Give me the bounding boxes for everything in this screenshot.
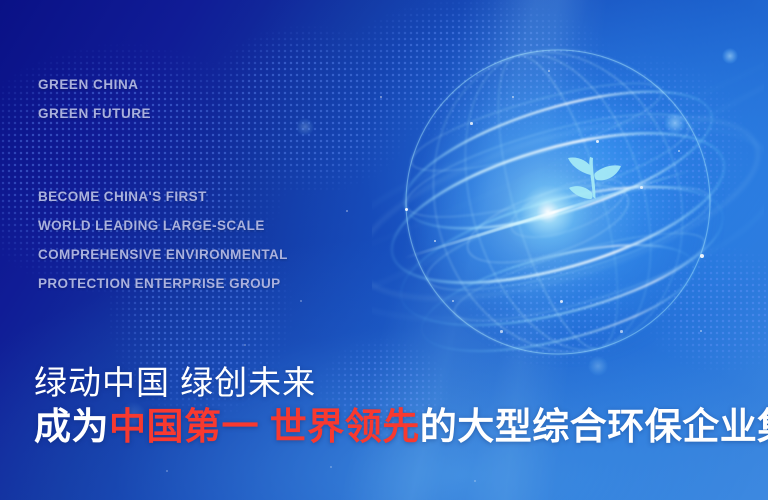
tagline-line-4: PROTECTION ENTERPRISE GROUP — [38, 269, 288, 298]
eyebrow-text: GREEN CHINA GREEN FUTURE — [38, 70, 151, 128]
headline-line-2: 成为中国第一 世界领先的大型综合环保企业集团 — [34, 403, 754, 451]
sprout-seedling-icon — [558, 147, 628, 233]
tagline-line-2: WORLD LEADING LARGE-SCALE — [38, 211, 288, 240]
tagline-line-1: BECOME CHINA'S FIRST — [38, 182, 288, 211]
headline-line-1: 绿动中国 绿创未来 — [34, 362, 754, 403]
globe-core-streak — [405, 169, 693, 260]
tagline-text: BECOME CHINA'S FIRST WORLD LEADING LARGE… — [38, 182, 288, 298]
hero-banner: GREEN CHINA GREEN FUTURE BECOME CHINA'S … — [0, 0, 768, 500]
headline-prefix: 成为 — [34, 406, 109, 447]
headline-suffix: 的大型综合环保企业集团 — [420, 406, 768, 447]
globe-wireframe-svg — [372, 12, 764, 404]
wireframe-globe — [372, 12, 764, 404]
globe-core-flare — [502, 166, 594, 258]
eyebrow-line-2: GREEN FUTURE — [38, 99, 151, 128]
headline-block: 绿动中国 绿创未来 成为中国第一 世界领先的大型综合环保企业集团 — [34, 362, 754, 451]
eyebrow-line-1: GREEN CHINA — [38, 70, 151, 99]
tagline-line-3: COMPREHENSIVE ENVIRONMENTAL — [38, 240, 288, 269]
headline-highlight: 中国第一 世界领先 — [109, 406, 420, 447]
globe-glow — [419, 59, 717, 357]
